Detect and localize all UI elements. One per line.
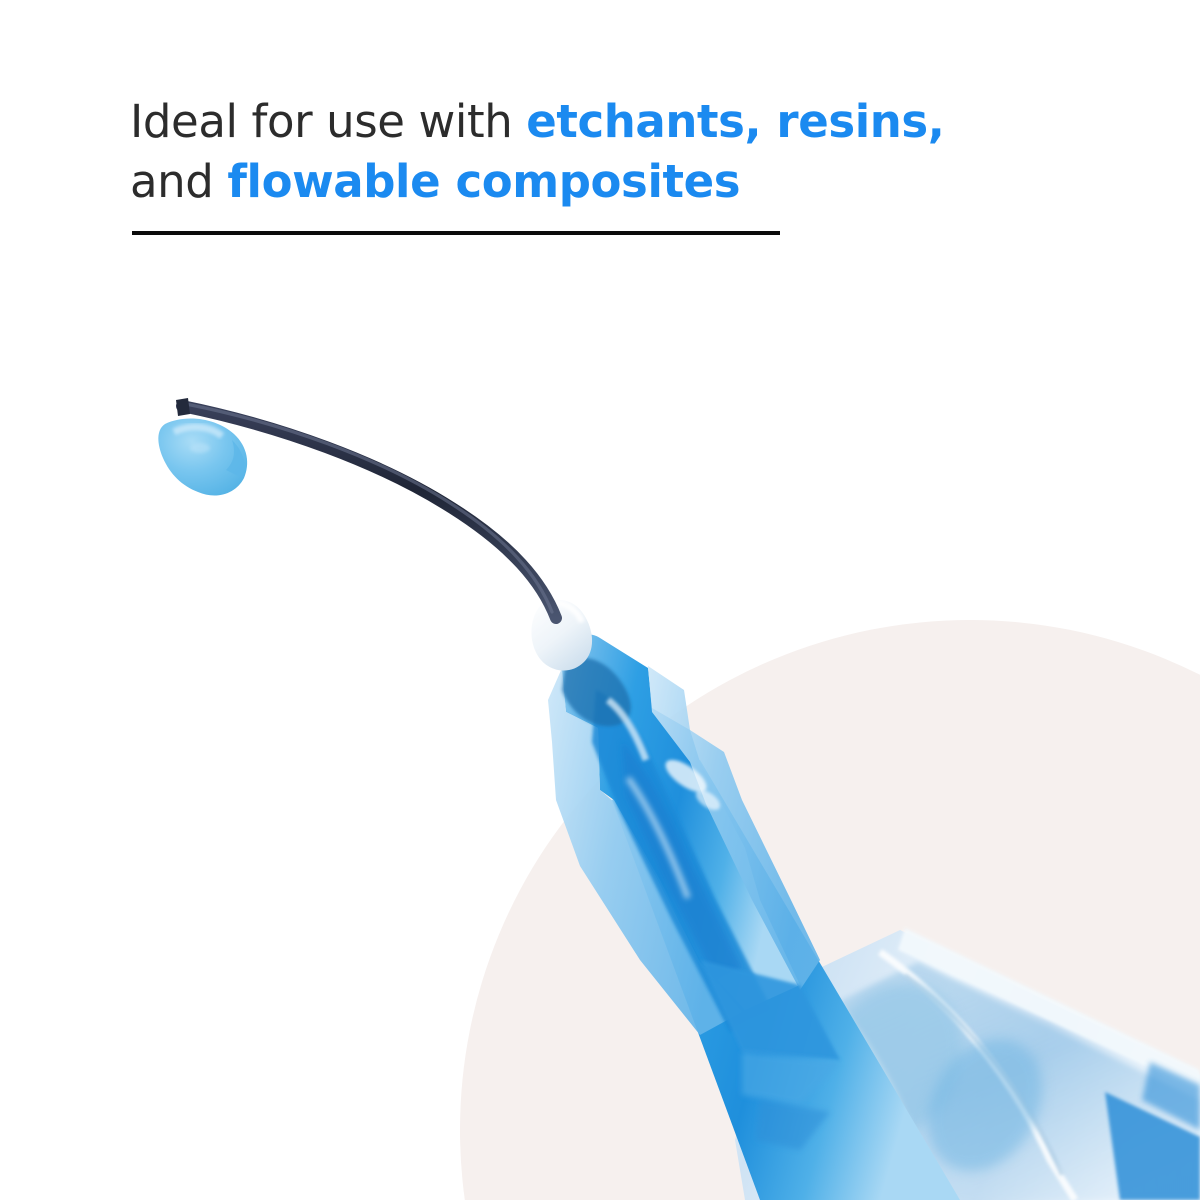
headline-line1-accent: etchants, resins,: [526, 95, 944, 148]
bendable-needle-cannula-group: [176, 398, 556, 618]
blue-hub-group: [548, 634, 960, 1200]
headline-line1-plain: Ideal for use with: [130, 95, 526, 148]
gel-droplet-tip-group: [158, 419, 247, 496]
headline-line2-plain: and: [130, 155, 227, 208]
poster-canvas: Ideal for use with etchants, resins,and …: [0, 0, 1200, 1200]
headline-divider-rule: [132, 231, 780, 235]
headline-line2-accent: flowable composites: [227, 155, 740, 208]
headline-block: Ideal for use with etchants, resins,and …: [130, 92, 1140, 212]
white-ferrule-collar-group: [531, 600, 592, 671]
headline-text: Ideal for use with etchants, resins,and …: [130, 92, 1140, 212]
